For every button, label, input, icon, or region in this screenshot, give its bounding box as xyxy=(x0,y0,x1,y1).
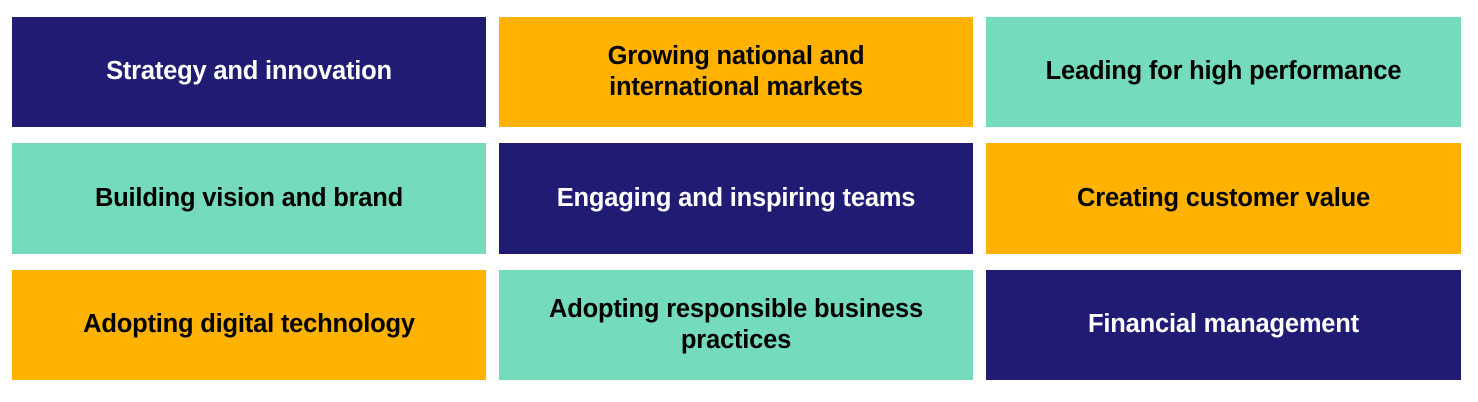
tile-label: Financial management xyxy=(1020,309,1427,340)
tile-label: Leading for high performance xyxy=(1020,56,1427,87)
capability-tile-grid: Strategy and innovation Growing national… xyxy=(0,0,1478,402)
tile-label: Growing national and international marke… xyxy=(533,41,939,103)
tile-leading-for-high-performance[interactable]: Leading for high performance xyxy=(986,17,1461,127)
tile-label: Adopting digital technology xyxy=(46,309,452,340)
tile-financial-management[interactable]: Financial management xyxy=(986,270,1461,380)
tile-adopting-digital-technology[interactable]: Adopting digital technology xyxy=(12,270,486,380)
tile-growing-national-and-international-markets[interactable]: Growing national and international marke… xyxy=(499,17,973,127)
tile-adopting-responsible-business-practices[interactable]: Adopting responsible business practices xyxy=(499,270,973,380)
tile-label: Creating customer value xyxy=(1020,183,1427,214)
tile-label: Building vision and brand xyxy=(46,183,452,214)
tile-creating-customer-value[interactable]: Creating customer value xyxy=(986,143,1461,254)
tile-label: Strategy and innovation xyxy=(46,56,452,87)
tile-engaging-and-inspiring-teams[interactable]: Engaging and inspiring teams xyxy=(499,143,973,254)
tile-strategy-and-innovation[interactable]: Strategy and innovation xyxy=(12,17,486,127)
tile-building-vision-and-brand[interactable]: Building vision and brand xyxy=(12,143,486,254)
tile-label: Adopting responsible business practices xyxy=(533,294,939,356)
tile-label: Engaging and inspiring teams xyxy=(533,183,939,214)
